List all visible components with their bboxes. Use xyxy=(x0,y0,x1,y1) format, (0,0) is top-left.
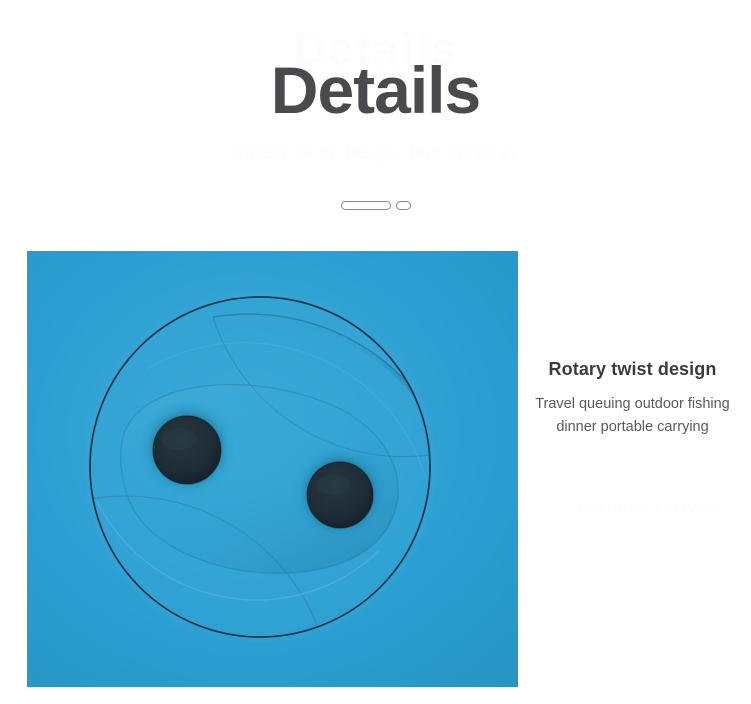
page-title: Details xyxy=(0,56,751,125)
feature-title: Rotary twist design xyxy=(520,358,745,381)
feature-description: Travel queuing outdoor fishing dinner po… xyxy=(520,393,745,438)
ghost-subtitle-watermark: Rotary twist design detail display xyxy=(0,142,751,164)
section-divider xyxy=(0,198,751,212)
details-page: Details Details Rotary twist design deta… xyxy=(0,0,751,704)
divider-bar-icon xyxy=(341,201,391,210)
feature-block: Rotary twist design Travel queuing outdo… xyxy=(520,358,745,438)
product-illustration xyxy=(27,251,518,687)
port-hole-right xyxy=(291,446,389,544)
product-image-panel xyxy=(27,251,518,687)
ghost-right-watermark: Portable carrying xyxy=(560,497,740,519)
divider-dot-icon xyxy=(396,201,411,210)
port-hole-left xyxy=(137,400,237,500)
